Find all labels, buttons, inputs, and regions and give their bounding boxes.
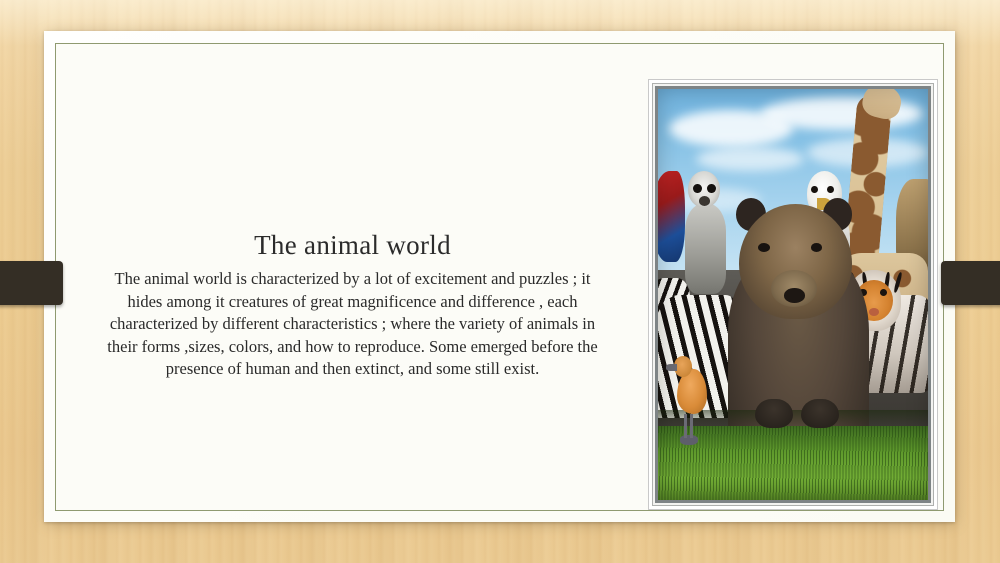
left-accent-bar bbox=[0, 261, 63, 305]
grass-icon bbox=[658, 426, 928, 500]
duck-feet-icon bbox=[680, 435, 699, 445]
lemur-body-icon bbox=[685, 204, 726, 294]
tiger-nose-icon bbox=[869, 308, 880, 316]
duck-leg-icon bbox=[684, 414, 687, 439]
parrot-icon bbox=[658, 171, 685, 261]
eagle-eye-icon bbox=[811, 186, 818, 193]
right-accent-bar bbox=[941, 261, 1000, 305]
bear-paw-icon bbox=[801, 399, 839, 428]
page-title: The animal world bbox=[80, 228, 625, 262]
eagle-eye-icon bbox=[827, 186, 834, 193]
text-block: The animal world The animal world is cha… bbox=[80, 228, 625, 381]
duck-beak-icon bbox=[666, 364, 677, 371]
bear-paw-icon bbox=[755, 399, 793, 428]
duck-leg-icon bbox=[690, 414, 693, 439]
lemur-snout-icon bbox=[699, 196, 710, 206]
photo-frame bbox=[648, 79, 938, 510]
photo-image bbox=[655, 86, 931, 503]
cloud-icon bbox=[696, 147, 804, 172]
bear-nose-icon bbox=[784, 288, 806, 303]
bear-eye-icon bbox=[758, 243, 770, 252]
body-paragraph: The animal world is characterized by a l… bbox=[80, 268, 625, 381]
photo-frame-bevel bbox=[652, 83, 934, 506]
animal-scene bbox=[658, 89, 928, 500]
slide-canvas: The animal world The animal world is cha… bbox=[0, 0, 1000, 563]
